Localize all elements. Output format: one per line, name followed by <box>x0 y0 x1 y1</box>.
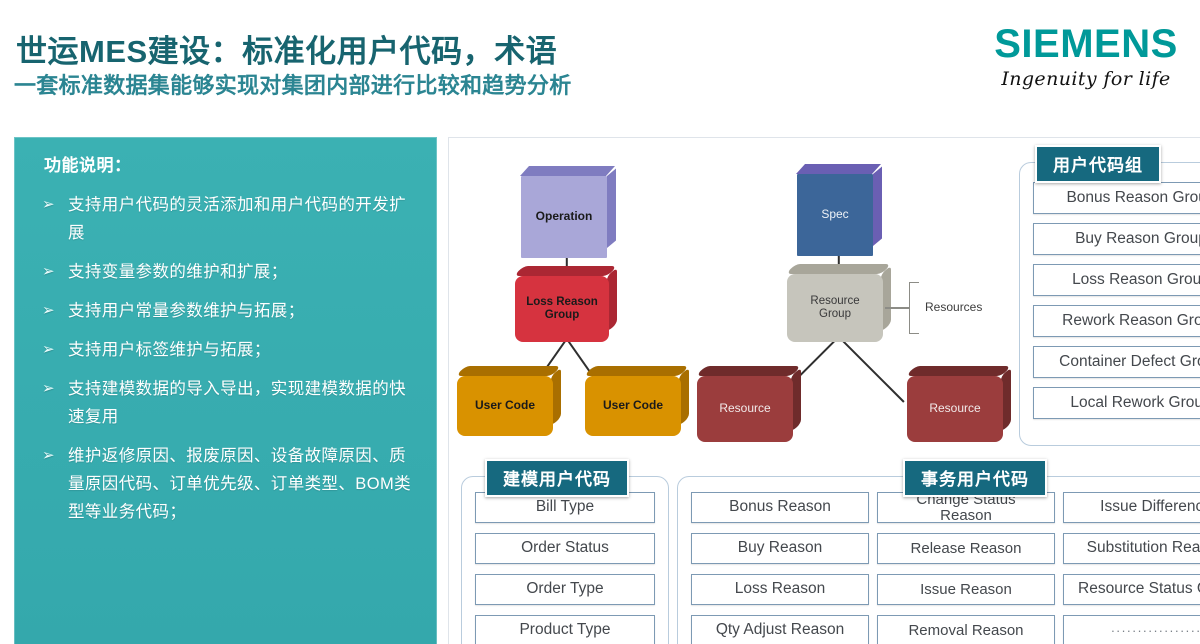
panel-heading: 功能说明： <box>44 151 437 176</box>
user-code-group-item[interactable]: Container Defect Group <box>1033 346 1200 378</box>
transaction-user-code-item[interactable]: Substitution Reason <box>1063 533 1200 564</box>
node-loss-reason-group[interactable]: Loss Reason Group <box>515 266 623 346</box>
bullet-list: ➢支持用户代码的灵活添加和用户代码的开发扩展➢支持变量参数的维护和扩展；➢支持用… <box>14 180 437 526</box>
diagram-card: Operation Loss Reason Group User Code Us… <box>448 137 1200 644</box>
node-top-face <box>786 264 891 274</box>
node-front-face: Operation <box>521 176 607 258</box>
node-top-face <box>520 166 615 176</box>
node-front-face: User Code <box>585 376 681 436</box>
node-spec[interactable]: Spec <box>797 164 881 256</box>
bullet-arrow-icon: ➢ <box>42 336 68 364</box>
siemens-wordmark: SIEMENS <box>976 24 1196 64</box>
bullet-arrow-icon: ➢ <box>42 442 68 526</box>
node-label: Resource Group <box>810 295 859 321</box>
transaction-user-code-title: 事务用户代码 <box>903 459 1047 497</box>
page-subtitle: 一套标准数据集能够实现对集团内部进行比较和趋势分析 <box>14 68 572 100</box>
node-label: Resource <box>719 402 770 416</box>
bullet-arrow-icon: ➢ <box>42 191 68 247</box>
node-label: User Code <box>475 399 535 413</box>
node-resource-2[interactable]: Resource <box>907 366 1019 444</box>
connector-resourcegroup-resource-right <box>838 336 904 402</box>
transaction-user-code-item[interactable]: Qty Adjust Reason <box>691 615 869 644</box>
modeling-user-code-item[interactable]: Order Status <box>475 533 655 564</box>
node-user-code-2[interactable]: User Code <box>585 366 697 438</box>
transaction-user-code-item[interactable]: Loss Reason <box>691 574 869 605</box>
transaction-user-code-item[interactable]: Issue Difference <box>1063 492 1200 523</box>
resources-bracket <box>909 282 919 334</box>
node-resource-1[interactable]: Resource <box>697 366 809 444</box>
bullet-text: 支持建模数据的导入导出，实现建模数据的快速复用 <box>68 375 419 431</box>
siemens-logo: SIEMENS Ingenuity for life <box>976 24 1196 90</box>
node-front-face: Resource Group <box>787 274 883 342</box>
bullet-item: ➢维护返修原因、报废原因、设备故障原因、质量原因代码、订单优先级、订单类型、BO… <box>42 431 419 526</box>
node-front-face: Resource <box>907 376 1003 442</box>
modeling-user-code-title: 建模用户代码 <box>485 459 629 497</box>
user-code-group-item[interactable]: Local Rework Group <box>1033 387 1200 419</box>
node-side-face <box>607 168 616 248</box>
node-label: Spec <box>821 208 848 222</box>
node-front-face: Resource <box>697 376 793 442</box>
node-top-face <box>796 164 881 174</box>
function-description-panel: 功能说明： ➢支持用户代码的灵活添加和用户代码的开发扩展➢支持变量参数的维护和扩… <box>14 137 437 644</box>
user-code-group-item[interactable]: Rework Reason Group <box>1033 305 1200 337</box>
node-top-face <box>696 366 801 376</box>
node-label: Operation <box>536 210 593 224</box>
transaction-user-code-item[interactable]: Bonus Reason <box>691 492 869 523</box>
bullet-item: ➢支持用户代码的灵活添加和用户代码的开发扩展 <box>42 180 419 247</box>
user-code-group-item[interactable]: Buy Reason Group <box>1033 223 1200 255</box>
node-top-face <box>456 366 561 376</box>
bullet-item: ➢支持用户标签维护与拓展； <box>42 325 419 364</box>
node-top-face <box>906 366 1011 376</box>
user-code-group-item[interactable]: Loss Reason Group <box>1033 264 1200 296</box>
node-resource-group[interactable]: Resource Group <box>787 264 897 346</box>
slide-root: 世运MES建设：标准化用户代码，术语 一套标准数据集能够实现对集团内部进行比较和… <box>0 0 1200 644</box>
bullet-arrow-icon: ➢ <box>42 297 68 325</box>
bullet-text: 支持变量参数的维护和扩展； <box>68 258 288 286</box>
user-code-group-item[interactable]: Bonus Reason Group <box>1033 182 1200 214</box>
resources-bracket-label: Resources <box>925 300 982 314</box>
node-operation[interactable]: Operation <box>521 166 615 258</box>
bullet-arrow-icon: ➢ <box>42 375 68 431</box>
node-side-face <box>873 166 882 246</box>
user-code-group-title: 用户代码组 <box>1035 145 1161 183</box>
transaction-user-code-item[interactable]: Resource Status Code <box>1063 574 1200 605</box>
page-title: 世运MES建设：标准化用户代码，术语 <box>16 26 557 71</box>
node-label: User Code <box>603 399 663 413</box>
modeling-user-code-item[interactable]: Order Type <box>475 574 655 605</box>
transaction-user-code-item[interactable]: Release Reason <box>877 533 1055 564</box>
transaction-user-code-item[interactable]: Buy Reason <box>691 533 869 564</box>
transaction-user-code-item[interactable]: ················· <box>1063 615 1200 644</box>
transaction-user-code-item[interactable]: Issue Reason <box>877 574 1055 605</box>
bullet-text: 支持用户常量参数维护与拓展； <box>68 297 305 325</box>
node-user-code-1[interactable]: User Code <box>457 366 569 438</box>
bullet-text: 维护返修原因、报废原因、设备故障原因、质量原因代码、订单优先级、订单类型、BOM… <box>68 442 419 526</box>
slide-header: 世运MES建设：标准化用户代码，术语 一套标准数据集能够实现对集团内部进行比较和… <box>0 0 1200 122</box>
node-front-face: Spec <box>797 174 873 256</box>
siemens-claim: Ingenuity for life <box>976 68 1196 90</box>
bullet-text: 支持用户标签维护与拓展； <box>68 336 271 364</box>
modeling-user-code-item[interactable]: Product Type <box>475 615 655 644</box>
node-front-face: Loss Reason Group <box>515 276 609 342</box>
bullet-item: ➢支持建模数据的导入导出，实现建模数据的快速复用 <box>42 364 419 431</box>
bullet-arrow-icon: ➢ <box>42 258 68 286</box>
bullet-item: ➢支持变量参数的维护和扩展； <box>42 247 419 286</box>
node-label: Loss Reason Group <box>526 296 598 322</box>
node-label: Resource <box>929 402 980 416</box>
bullet-text: 支持用户代码的灵活添加和用户代码的开发扩展 <box>68 191 419 247</box>
node-top-face <box>514 266 617 276</box>
bracket-stem <box>885 307 909 309</box>
node-front-face: User Code <box>457 376 553 436</box>
transaction-user-code-item[interactable]: Removal Reason <box>877 615 1055 644</box>
bullet-item: ➢支持用户常量参数维护与拓展； <box>42 286 419 325</box>
node-top-face <box>584 366 689 376</box>
